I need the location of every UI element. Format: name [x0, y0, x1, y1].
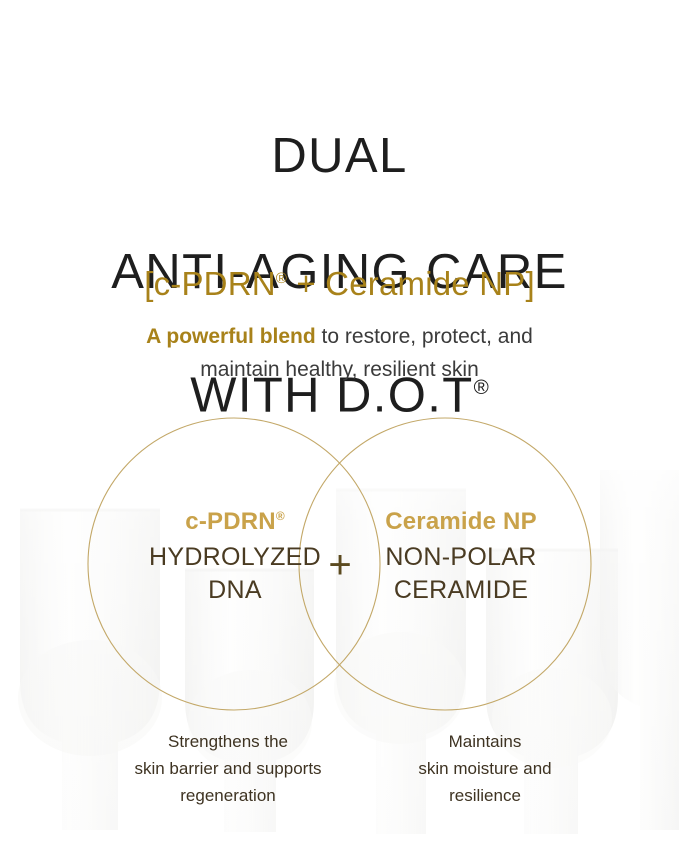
description-text: A powerful blend to restore, protect, an…	[0, 320, 679, 386]
caption-left-line-1: Strengthens the	[78, 728, 378, 755]
registered-trademark-icon: ®	[276, 270, 287, 287]
venn-right-dark-line-1: NON-POLAR	[330, 541, 592, 574]
infographic-page: DUAL ANTI-AGING CARE WITH D.O.T® [c-PDRN…	[0, 0, 679, 849]
caption-right-line-3: resilience	[360, 782, 610, 809]
description-highlight: A powerful blend	[146, 325, 316, 348]
caption-right-line-2: skin moisture and	[360, 755, 610, 782]
venn-right-dark-label: NON-POLAR CERAMIDE	[330, 541, 592, 607]
caption-right-line-1: Maintains	[360, 728, 610, 755]
venn-diagram: c-PDRN® HYDROLYZED DNA + Ceramide NP NON…	[0, 400, 679, 740]
venn-right-gold-text: Ceramide NP	[385, 508, 537, 535]
caption-left-line-3: regeneration	[78, 782, 378, 809]
description-line-1-rest: to restore, protect, and	[316, 325, 533, 348]
title-line-1: DUAL	[0, 127, 679, 185]
benefit-captions: Strengthens the skin barrier and support…	[0, 728, 679, 828]
registered-trademark-icon: ®	[276, 509, 285, 523]
subtitle-ingredient-1: c-PDRN	[154, 265, 276, 302]
subtitle-open-bracket: [	[144, 265, 153, 302]
description-line-1: A powerful blend to restore, protect, an…	[0, 320, 679, 353]
venn-left-gold-text: c-PDRN	[185, 508, 276, 535]
caption-left: Strengthens the skin barrier and support…	[78, 728, 378, 809]
ingredient-subtitle: [c-PDRN® + Ceramide NP]	[0, 258, 679, 305]
subtitle-ingredient-2: Ceramide NP	[325, 265, 525, 302]
venn-right-gold-label: Ceramide NP	[330, 500, 592, 538]
venn-right-labels: Ceramide NP NON-POLAR CERAMIDE	[330, 500, 592, 607]
caption-left-line-2: skin barrier and supports	[78, 755, 378, 782]
subtitle-close-bracket: ]	[525, 265, 534, 302]
caption-right: Maintains skin moisture and resilience	[360, 728, 610, 809]
description-line-2: maintain healthy, resilient skin	[0, 353, 679, 386]
subtitle-separator: +	[287, 265, 325, 302]
venn-left-gold-label: c-PDRN®	[104, 500, 366, 538]
venn-right-dark-line-2: CERAMIDE	[330, 574, 592, 607]
